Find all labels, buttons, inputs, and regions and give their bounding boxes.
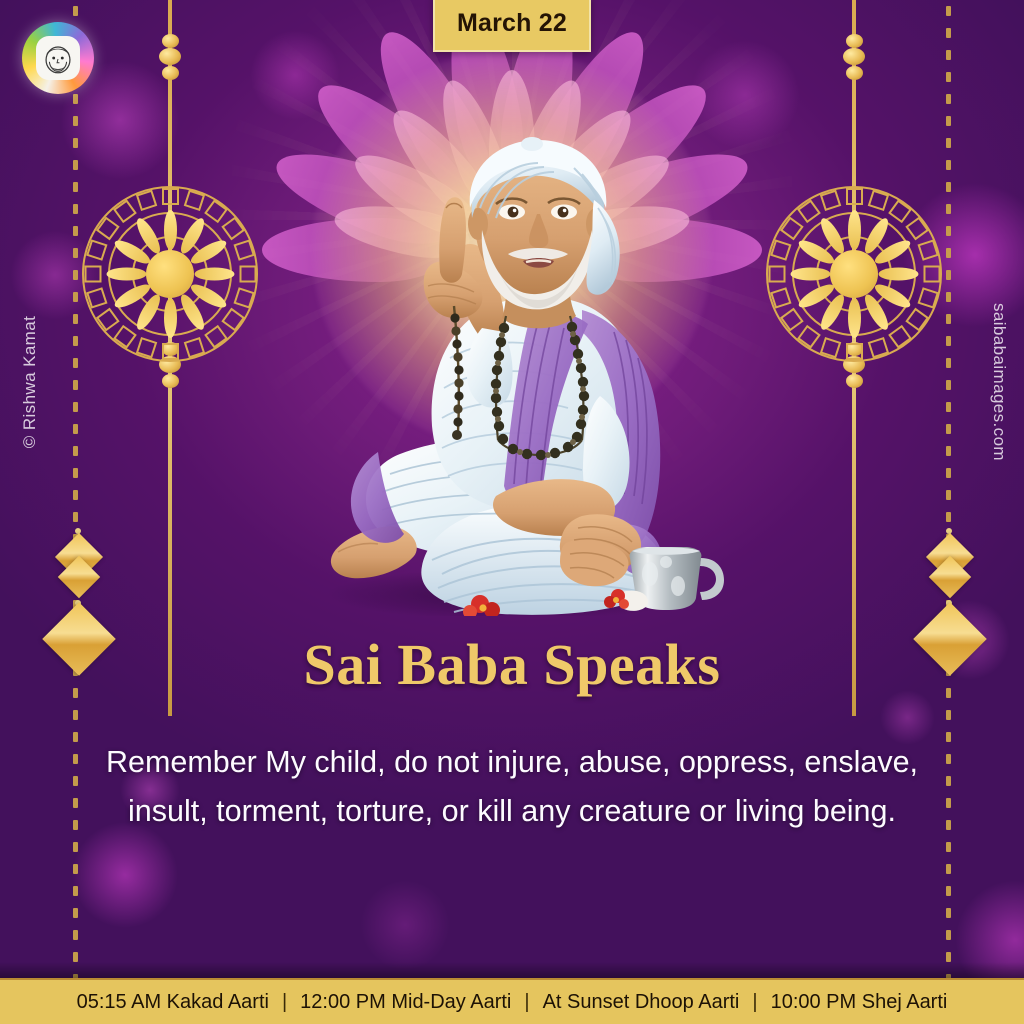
date-badge-label: March 22: [457, 9, 567, 38]
aarti-item: 12:00 PM Mid-Day Aarti: [300, 991, 511, 1014]
footer-shadow: [0, 962, 1024, 978]
watermark-site: saibabaimages.com: [989, 272, 1009, 492]
aarti-item: At Sunset Dhoop Aarti: [543, 991, 740, 1014]
date-badge: March 22: [433, 0, 591, 52]
aarti-item: 10:00 PM Shej Aarti: [771, 991, 948, 1014]
watermark-author: © Rishwa Kamat: [20, 282, 40, 482]
aarti-separator: |: [739, 991, 770, 1014]
logo-face-icon: [36, 36, 80, 80]
sai-baba-daily-quote-card: March 22 Sai Baba Speaks Remember My chi…: [0, 0, 1024, 1024]
sai-baba-figure: [282, 96, 742, 616]
page-title: Sai Baba Speaks: [0, 631, 1024, 698]
aarti-timings-bar: 05:15 AM Kakad Aarti | 12:00 PM Mid-Day …: [0, 978, 1024, 1024]
right-mandala-ornament: [766, 186, 942, 362]
aarti-item: 05:15 AM Kakad Aarti: [77, 991, 269, 1014]
bokeh-glow: [360, 880, 450, 970]
aarti-separator: |: [269, 991, 300, 1014]
aarti-separator: |: [511, 991, 542, 1014]
right-dotted-bead-string: [946, 0, 951, 1024]
left-mandala-ornament: [82, 186, 258, 362]
left-dotted-bead-string: [73, 0, 78, 1024]
bokeh-glow: [880, 690, 935, 745]
sai-baba-logo[interactable]: [22, 22, 94, 94]
bokeh-glow: [70, 820, 180, 930]
quote-text: Remember My child, do not injure, abuse,…: [74, 738, 950, 836]
